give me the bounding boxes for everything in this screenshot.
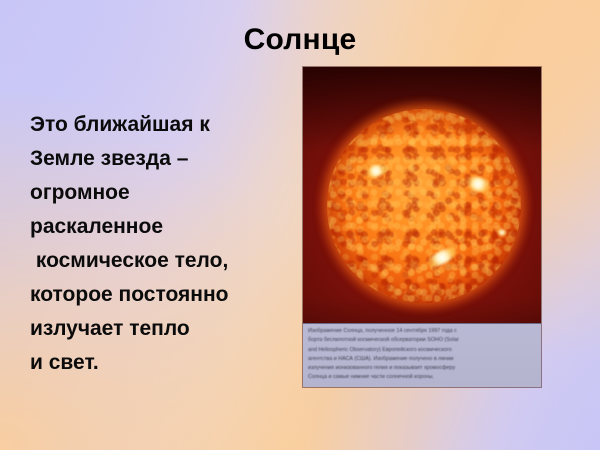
solar-flare-icon [497, 229, 507, 236]
body-text-line: и свет. [30, 346, 306, 380]
limb-darkening [327, 109, 521, 303]
body-text-line: Это ближайшая к [30, 108, 306, 142]
body-text-line: которое постоянно [30, 278, 306, 312]
page-title: Солнце [0, 23, 600, 57]
body-text-line: излучает тепло [30, 312, 306, 346]
sun-disc-container [303, 67, 541, 325]
body-text-line: огромное [30, 176, 306, 210]
body-text-line: раскаленное [30, 210, 306, 244]
photo-caption: Изображение Солнца, полученное 14 сентяб… [303, 323, 541, 387]
solar-disc [327, 109, 521, 303]
body-text-line: космическое тело, [30, 244, 306, 278]
caption-line: Солнца и самые нижние части солнечной ко… [308, 373, 537, 382]
presentation-slide: Солнце Это ближайшая к Земле звезда – ог… [0, 0, 600, 450]
caption-line: излучения ионизованного гелия и показыва… [308, 364, 537, 373]
sun-photograph: Изображение Солнца, полученное 14 сентяб… [303, 67, 541, 387]
body-text-block: Это ближайшая к Земле звезда – огромное … [30, 108, 306, 380]
caption-line: борта беспилотной космической обсерватор… [308, 336, 537, 345]
body-text-line: Земле звезда – [30, 142, 306, 176]
caption-line: and Heliospheric Observatory) Европейско… [308, 346, 537, 355]
caption-line: агентства и НАСА (США). Изображение полу… [308, 355, 537, 364]
caption-line: Изображение Солнца, полученное 14 сентяб… [308, 327, 537, 336]
